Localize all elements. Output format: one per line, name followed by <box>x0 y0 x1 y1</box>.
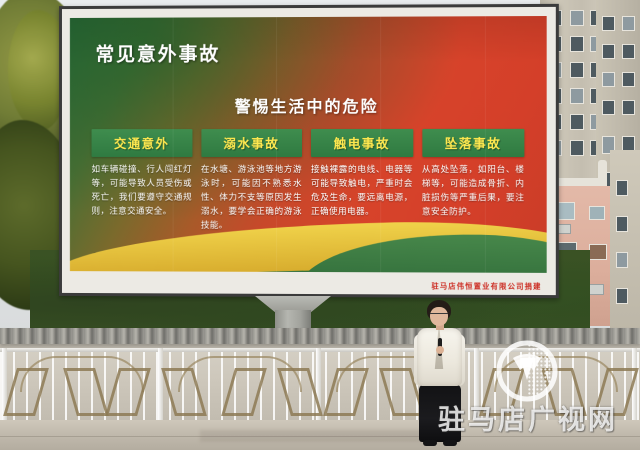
speaker-shoe <box>443 440 457 446</box>
wall-tiled-coping <box>0 328 640 344</box>
poster-card: 溺水事故 在水塘、游泳池等地方游泳时，可能因不熟悉水性、体力不支等原因发生溺水，… <box>201 129 302 234</box>
poster-card-row: 交通意外 如车辆碰撞、行人闯红灯等，可能导致人员受伤或死亡，我们要遵守交通规则，… <box>92 129 525 234</box>
card-heading: 溺水事故 <box>201 129 302 157</box>
poster-title: 常见意外事故 <box>95 39 220 66</box>
card-body: 接触裸露的电线、电器等可能导致触电，严重时会危及生命，要远离电源，正确使用电器。 <box>311 164 413 220</box>
ground-seam-line <box>0 436 640 437</box>
poster-card: 触电事故 接触裸露的电线、电器等可能导致触电，严重时会危及生命，要远离电源，正确… <box>311 129 413 234</box>
speaker-pants <box>419 384 461 442</box>
card-heading: 触电事故 <box>311 129 413 157</box>
poster-card: 交通意外 如车辆碰撞、行人闯红灯等，可能导致人员受伤或死亡，我们要遵守交通规则，… <box>92 129 192 233</box>
card-heading: 坠落事故 <box>422 129 525 157</box>
billboard: 常见意外事故 警惕生活中的危险 交通意外 如车辆碰撞、行人闯红灯等，可能导致人员… <box>59 4 559 298</box>
card-body: 从高处坠落，如阳台、楼梯等，可能造成骨折、内脏损伤等严重后果，要注意安全防护。 <box>422 164 525 220</box>
card-body: 如车辆碰撞、行人闯红灯等，可能导致人员受伤或死亡，我们要遵守交通规则，注意交通安… <box>92 164 192 220</box>
billboard-poster: 常见意外事故 警惕生活中的危险 交通意外 如车辆碰撞、行人闯红灯等，可能导致人员… <box>70 16 547 273</box>
speaker-shoe <box>423 440 437 446</box>
railing-post <box>158 348 163 426</box>
billboard-credit-text: 驻马店伟恒置业有限公司捐建 <box>431 282 541 293</box>
poster-card: 坠落事故 从高处坠落，如阳台、楼梯等，可能造成骨折、内脏损伤等严重后果，要注意安… <box>422 129 525 234</box>
speaker-hand <box>436 346 444 354</box>
card-heading: 交通意外 <box>92 129 192 157</box>
background-building-far-right <box>610 150 640 330</box>
photo-scene: 常见意外事故 警惕生活中的危险 交通意外 如车辆碰撞、行人闯红灯等，可能导致人员… <box>0 0 640 450</box>
glasses-icon <box>430 313 448 318</box>
poster-subtitle: 警惕生活中的危险 <box>70 93 547 118</box>
speaker-person <box>405 300 475 450</box>
metal-railing <box>0 348 640 426</box>
card-body: 在水塘、游泳池等地方游泳时，可能因不熟悉水性、体力不支等原因发生溺水，要学会正确… <box>201 164 302 234</box>
